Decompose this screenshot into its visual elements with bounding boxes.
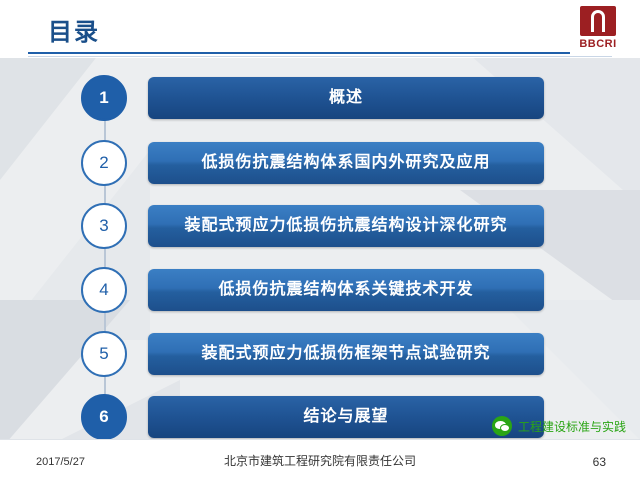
toc-number-3: 3 bbox=[81, 203, 127, 249]
toc-item-3[interactable]: 3 装配式预应力低损伤抗震结构设计深化研究 bbox=[0, 203, 640, 251]
logo-mark-icon bbox=[580, 6, 616, 36]
toc-label-5[interactable]: 装配式预应力低损伤框架节点试验研究 bbox=[148, 333, 544, 375]
toc-label-3[interactable]: 装配式预应力低损伤抗震结构设计深化研究 bbox=[148, 205, 544, 247]
toc-label-1[interactable]: 概述 bbox=[148, 77, 544, 119]
toc-number-1: 1 bbox=[81, 75, 127, 121]
toc-number-4: 4 bbox=[81, 267, 127, 313]
toc-number-2: 2 bbox=[81, 140, 127, 186]
slide-canvas: 目录 BBCRI 1 概述 2 低损伤抗震结构体系国内外研究及应用 3 装配式预… bbox=[0, 0, 640, 480]
page-title: 目录 bbox=[48, 12, 100, 47]
toc-label-6[interactable]: 结论与展望 bbox=[148, 396, 544, 438]
logo-abbr: BBCRI bbox=[570, 38, 626, 50]
toc-label-2[interactable]: 低损伤抗震结构体系国内外研究及应用 bbox=[148, 142, 544, 184]
footer: 2017/5/27 北京市建筑工程研究院有限责任公司 63 bbox=[0, 439, 640, 480]
toc-number-5: 5 bbox=[81, 331, 127, 377]
footer-page-number: 63 bbox=[593, 455, 606, 469]
toc-item-2[interactable]: 2 低损伤抗震结构体系国内外研究及应用 bbox=[0, 140, 640, 188]
logo: BBCRI bbox=[570, 6, 626, 54]
toc-item-4[interactable]: 4 低损伤抗震结构体系关键技术开发 bbox=[0, 267, 640, 315]
toc-item-1[interactable]: 1 概述 bbox=[0, 75, 640, 123]
title-bar: 目录 BBCRI bbox=[0, 0, 640, 58]
title-divider bbox=[28, 52, 612, 54]
footer-organization: 北京市建筑工程研究院有限责任公司 bbox=[0, 452, 640, 469]
toc-label-4[interactable]: 低损伤抗震结构体系关键技术开发 bbox=[148, 269, 544, 311]
watermark: 工程建设标准与实践 bbox=[492, 416, 626, 436]
wechat-icon bbox=[492, 416, 512, 436]
toc-number-6: 6 bbox=[81, 394, 127, 440]
watermark-text: 工程建设标准与实践 bbox=[518, 418, 626, 435]
toc-item-5[interactable]: 5 装配式预应力低损伤框架节点试验研究 bbox=[0, 331, 640, 379]
title-divider-secondary bbox=[28, 56, 612, 57]
